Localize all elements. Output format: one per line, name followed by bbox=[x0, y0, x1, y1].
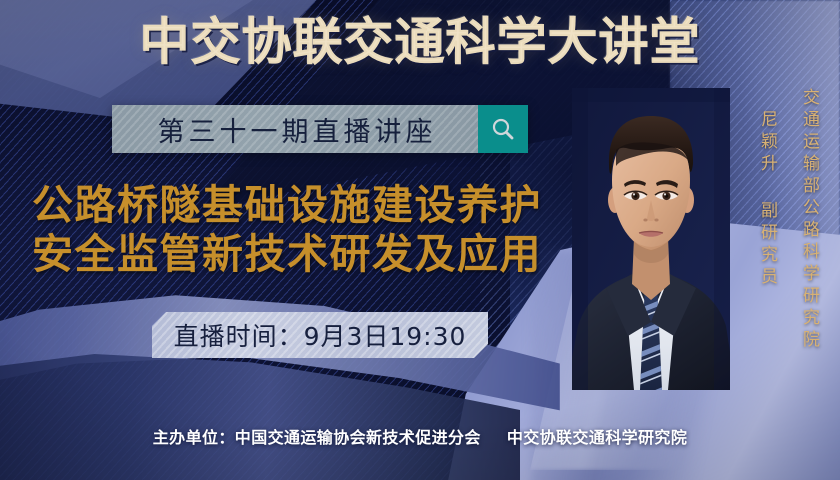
page-title: 中交协联交通科学大讲堂 bbox=[0, 16, 840, 69]
episode-banner: 第三十一期直播讲座 bbox=[112, 105, 528, 153]
footer-prefix: 主办单位： bbox=[153, 428, 235, 447]
search-icon bbox=[490, 116, 516, 142]
lecture-headline: 公路桥隧基础设施建设养护 安全监管新技术研发及应用 bbox=[32, 180, 542, 279]
live-stream-promo-poster: 中交协联交通科学大讲堂 第三十一期直播讲座 公路桥隧基础设施建设养护 安全监管新… bbox=[0, 0, 840, 480]
broadcast-time-badge: 直播时间：9月3日19:30 bbox=[152, 312, 488, 358]
footer-organizer-1: 中国交通运输协会新技术促进分会 bbox=[235, 428, 481, 447]
speaker-organization: 交通运输部公路科学研究院 bbox=[797, 88, 822, 352]
search-button[interactable] bbox=[478, 105, 528, 153]
headline-line-1: 公路桥隧基础设施建设养护 bbox=[32, 180, 542, 230]
broadcast-time-label: 直播时间：9月3日19:30 bbox=[174, 317, 467, 353]
footer-organizer-2: 中交协联交通科学研究院 bbox=[507, 428, 687, 447]
speaker-name-title: 尼颖升 副研究员 bbox=[755, 110, 780, 289]
poster-content: 中交协联交通科学大讲堂 第三十一期直播讲座 公路桥隧基础设施建设养护 安全监管新… bbox=[0, 0, 840, 480]
footer-organizers: 主办单位：中国交通运输协会新技术促进分会中交协联交通科学研究院 bbox=[0, 424, 840, 448]
episode-label: 第三十一期直播讲座 bbox=[154, 110, 437, 149]
episode-banner-fill: 第三十一期直播讲座 bbox=[112, 105, 478, 153]
headline-line-2: 安全监管新技术研发及应用 bbox=[32, 229, 542, 279]
